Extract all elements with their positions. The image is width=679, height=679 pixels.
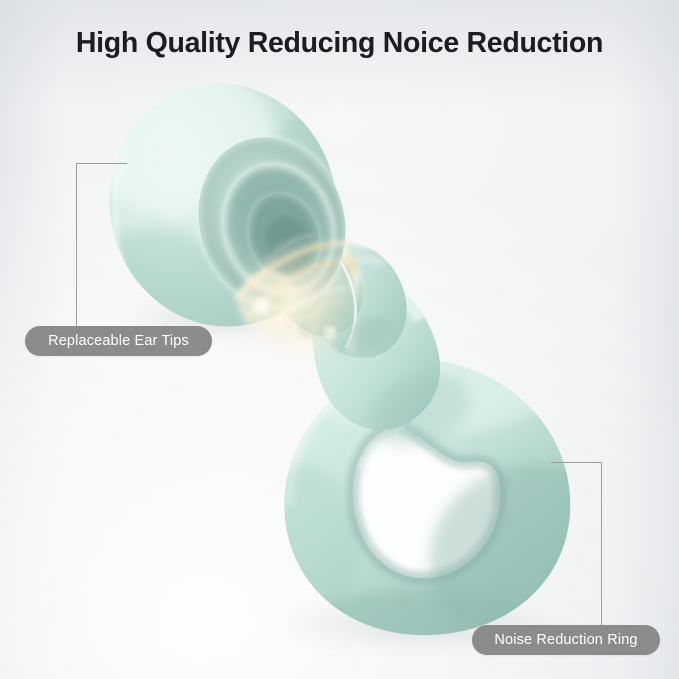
leader-line-ring-horizontal: [551, 462, 602, 463]
page-title: High Quality Reducing Noice Reduction: [0, 27, 679, 60]
callout-noise-reduction-ring: Noise Reduction Ring: [472, 625, 660, 655]
leader-line-ring-vertical: [601, 462, 602, 626]
leader-line-eartips-horizontal: [76, 163, 127, 164]
leader-line-eartips-vertical: [76, 163, 77, 327]
callout-replaceable-ear-tips: Replaceable Ear Tips: [25, 326, 212, 356]
product-feature-image: High Quality Reducing Noice Reduction: [0, 0, 679, 679]
